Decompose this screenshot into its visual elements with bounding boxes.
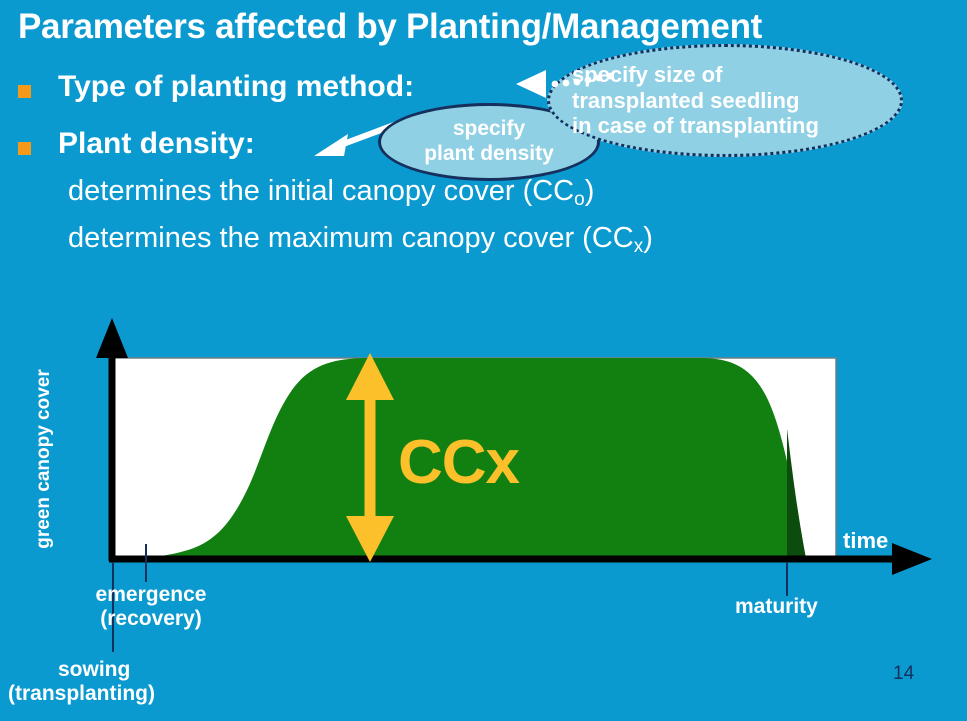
bullet-marker-2	[18, 142, 31, 155]
slide-canvas: Parameters affected by Planting/Manageme…	[0, 0, 967, 721]
emergence-label-line-1: emergence	[96, 583, 207, 606]
callout-density-line-1: specify	[453, 117, 525, 142]
y-axis-arrowhead	[96, 318, 128, 358]
subline-1-subscript: o	[574, 189, 585, 210]
canopy-cover-chart: green canopy cover CCx time emergence (r…	[0, 300, 967, 721]
page-number: 14	[893, 663, 914, 685]
bullet-label-planting-method: Type of planting method:	[58, 70, 414, 104]
subline-maximum-canopy-cover: determines the maximum canopy cover (CCx…	[68, 222, 653, 255]
subline-2-suffix: )	[643, 222, 653, 254]
subline-2-prefix: determines the maximum canopy cover (CC	[68, 222, 634, 254]
subline-initial-canopy-cover: determines the initial canopy cover (CCo…	[68, 175, 594, 208]
y-axis-label: green canopy cover	[33, 354, 55, 564]
page-title: Parameters affected by Planting/Manageme…	[18, 7, 762, 47]
ccx-annotation-label: CCx	[398, 427, 519, 498]
bullet-label-plant-density: Plant density:	[58, 127, 255, 161]
bullet-marker-1	[18, 85, 31, 98]
emergence-label: emergence (recovery)	[86, 583, 216, 631]
emergence-label-line-2: (recovery)	[86, 607, 216, 631]
callout-seedling-line-3: in case of transplanting	[572, 113, 819, 139]
x-axis-label: time	[843, 528, 888, 554]
callout-arrow-planting-method-icon	[512, 62, 622, 106]
sowing-label-line-2: (transplanting)	[8, 682, 155, 706]
sowing-label: sowing (transplanting)	[58, 658, 155, 706]
subline-1-suffix: )	[585, 175, 595, 207]
x-axis-arrowhead	[892, 543, 932, 575]
maturity-label: maturity	[735, 595, 818, 619]
subline-2-subscript: x	[634, 236, 644, 257]
sowing-label-line-1: sowing	[58, 658, 130, 681]
callout-density-line-2: plant density	[424, 142, 554, 167]
